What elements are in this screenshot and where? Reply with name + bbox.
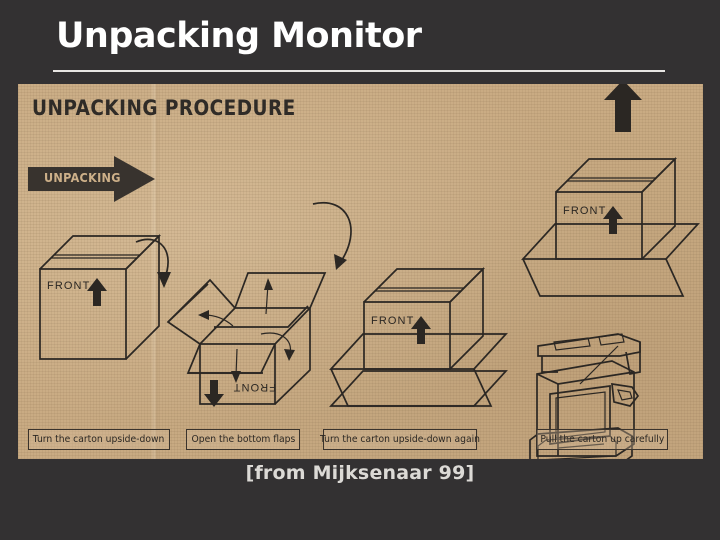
step-4-lift-arrow bbox=[604, 84, 642, 132]
step-caption-box-2: Open the bottom flaps bbox=[186, 429, 300, 450]
source-credit: [from Mijksenaar 99] bbox=[0, 462, 720, 484]
slide: Unpacking Monitor UNPACKING PROCEDURE UN… bbox=[0, 0, 720, 540]
step-caption-box-3: Turn the carton upside-down again bbox=[323, 429, 477, 450]
rotation-arrow-1 bbox=[136, 239, 171, 288]
step-caption-box-4: Pull the carton up carefully bbox=[536, 429, 668, 450]
step-caption-4: Pull the carton up carefully bbox=[540, 434, 664, 445]
svg-text:FRONT: FRONT bbox=[47, 280, 90, 292]
title-divider bbox=[53, 70, 665, 72]
unpacking-steps-illustration: FRONT bbox=[18, 84, 703, 459]
step-caption-3: Turn the carton upside-down again bbox=[320, 434, 480, 445]
step-2-carton-drawing: FRONT bbox=[168, 273, 325, 407]
step-caption-1: Turn the carton upside-down bbox=[33, 434, 165, 445]
step-4-carton-drawing: FRONT bbox=[523, 159, 698, 296]
step-caption-2: Open the bottom flaps bbox=[191, 434, 295, 445]
page-title: Unpacking Monitor bbox=[56, 16, 422, 56]
svg-text:FRONT: FRONT bbox=[233, 381, 276, 393]
step-caption-box-1: Turn the carton upside-down bbox=[28, 429, 170, 450]
cardboard-illustration-panel: UNPACKING PROCEDURE UNPACKING bbox=[18, 84, 703, 459]
rotation-arrow-2 bbox=[313, 203, 351, 270]
svg-text:FRONT: FRONT bbox=[563, 205, 606, 217]
step-3-carton-drawing: FRONT bbox=[331, 269, 506, 406]
svg-text:FRONT: FRONT bbox=[371, 315, 414, 327]
step-1-carton-drawing: FRONT bbox=[40, 236, 159, 359]
